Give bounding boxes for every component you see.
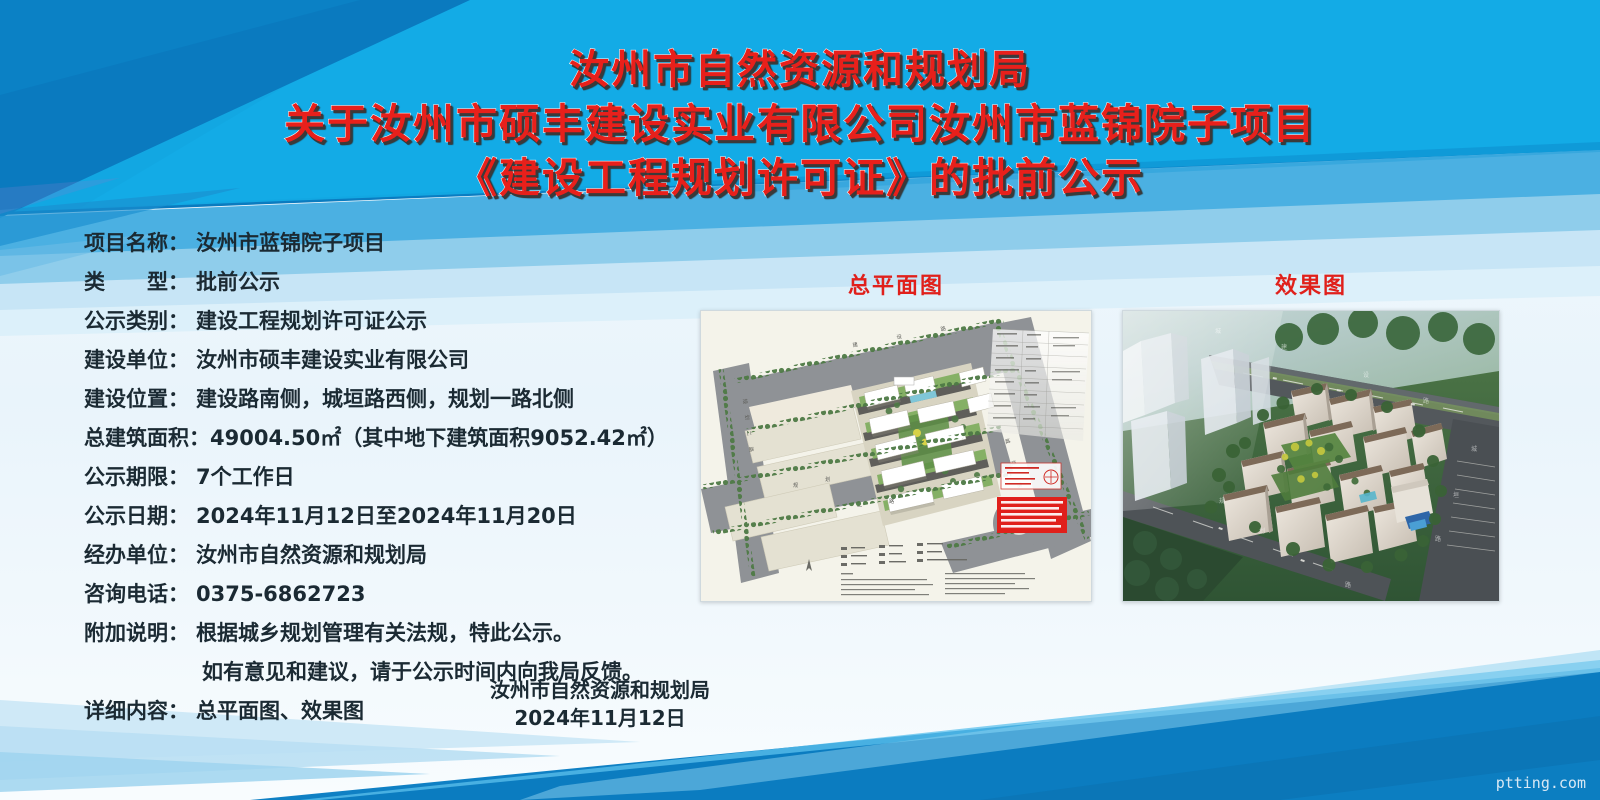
svg-text:城: 城 [1215, 328, 1221, 335]
detail-label: 总建筑面积： [84, 426, 210, 450]
detail-label: 公示类别： [84, 302, 196, 341]
detail-label: 咨询电话： [84, 575, 196, 614]
svg-text:二: 二 [745, 430, 752, 436]
figure-caption-site-plan: 总平面图 [700, 268, 1092, 300]
title-line-1: 汝州市自然资源和规划局 [0, 46, 1600, 95]
detail-value: 汝州市硕丰建设实业有限公司 [196, 341, 724, 380]
poster-title-block: 汝州市自然资源和规划局 关于汝州市硕丰建设实业有限公司汝州市蓝锦院子项目 《建设… [0, 46, 1600, 203]
svg-text:规: 规 [1219, 497, 1225, 505]
signature-date: 2024年11月12日 [420, 704, 780, 732]
detail-row-category: 公示类别： 建设工程规划许可证公示 [84, 302, 724, 341]
detail-label: 项目名称： [84, 224, 196, 263]
detail-row-authority: 经办单位： 汝州市自然资源和规划局 [84, 536, 724, 575]
detail-row-period: 公示期限： 7个工作日 [84, 458, 724, 497]
signature-organization: 汝州市自然资源和规划局 [420, 676, 780, 704]
svg-text:建: 建 [1281, 343, 1287, 351]
svg-text:路: 路 [889, 497, 895, 505]
detail-label: 详细内容： [84, 692, 196, 731]
svg-text:路: 路 [1435, 535, 1441, 543]
project-details-list: 项目名称： 汝州市蓝锦院子项目 类 型： 批前公示 公示类别： 建设工程规划许可… [84, 224, 724, 731]
title-line-2: 关于汝州市硕丰建设实业有限公司汝州市蓝锦院子项目 [0, 99, 1600, 149]
detail-row-type: 类 型： 批前公示 [84, 263, 724, 302]
detail-label: 附加说明： [84, 614, 196, 653]
svg-text:路: 路 [1423, 397, 1429, 405]
detail-value: 建设路南侧，城垣路西侧，规划一路北侧 [196, 380, 724, 419]
detail-label: 经办单位： [84, 536, 196, 575]
detail-value: 49004.50㎡（其中地下建筑面积9052.42㎡） [210, 426, 668, 450]
detail-value: 根据城乡规划管理有关法规，特此公示。 [196, 614, 724, 653]
detail-label: 公示期限： [84, 458, 196, 497]
svg-text:垣: 垣 [1453, 491, 1459, 499]
site-plan-image[interactable]: 建 设 路 规 划 二 路 规划 一路 城 垣 路 [700, 310, 1092, 602]
svg-text:划: 划 [825, 475, 830, 483]
publicity-poster: 汝州市自然资源和规划局 关于汝州市硕丰建设实业有限公司汝州市蓝锦院子项目 《建设… [0, 0, 1600, 800]
detail-row-developer: 建设单位： 汝州市硕丰建设实业有限公司 [84, 341, 724, 380]
detail-row-note: 附加说明： 根据城乡规划管理有关法规，特此公示。 [84, 614, 724, 653]
detail-label: 类 型： [84, 263, 196, 302]
detail-label: 公示日期： [84, 497, 196, 536]
figure-caption-rendering: 效果图 [1122, 268, 1500, 300]
detail-row-phone: 咨询电话： 0375-6862723 [84, 575, 724, 614]
svg-text:规: 规 [793, 481, 798, 489]
figure-rendering: 效果图 [1122, 268, 1500, 602]
title-line-3: 《建设工程规划许可证》的批前公示 [0, 153, 1600, 203]
detail-label: 建设位置： [84, 380, 196, 419]
detail-row-location: 建设位置： 建设路南侧，城垣路西侧，规划一路北侧 [84, 380, 724, 419]
rendering-image[interactable]: 城 建 设 路 城 垣 路 规 划 路 [1122, 310, 1500, 602]
svg-text:设: 设 [1363, 371, 1369, 379]
detail-row-total-area: 总建筑面积：49004.50㎡（其中地下建筑面积9052.42㎡） [84, 419, 724, 458]
detail-value: 7个工作日 [196, 458, 724, 497]
site-watermark: ptting.com [1496, 774, 1586, 792]
svg-text:划: 划 [1259, 527, 1265, 535]
detail-row-project-name: 项目名称： 汝州市蓝锦院子项目 [84, 224, 724, 263]
detail-row-dates: 公示日期： 2024年11月12日至2024年11月20日 [84, 497, 724, 536]
detail-value: 汝州市蓝锦院子项目 [196, 224, 724, 263]
detail-value: 批前公示 [196, 263, 724, 302]
detail-label-value-combined: 总建筑面积：49004.50㎡（其中地下建筑面积9052.42㎡） [84, 419, 724, 458]
detail-value: 汝州市自然资源和规划局 [196, 536, 724, 575]
detail-value: 2024年11月12日至2024年11月20日 [196, 497, 724, 536]
figure-site-plan: 总平面图 [700, 268, 1092, 602]
svg-text:一: 一 [857, 505, 862, 511]
detail-label: 建设单位： [84, 341, 196, 380]
svg-text:城: 城 [1471, 446, 1477, 453]
detail-value: 建设工程规划许可证公示 [196, 302, 724, 341]
svg-text:路: 路 [1345, 581, 1351, 589]
signature-block: 汝州市自然资源和规划局 2024年11月12日 [420, 676, 780, 732]
detail-value: 0375-6862723 [196, 575, 724, 614]
